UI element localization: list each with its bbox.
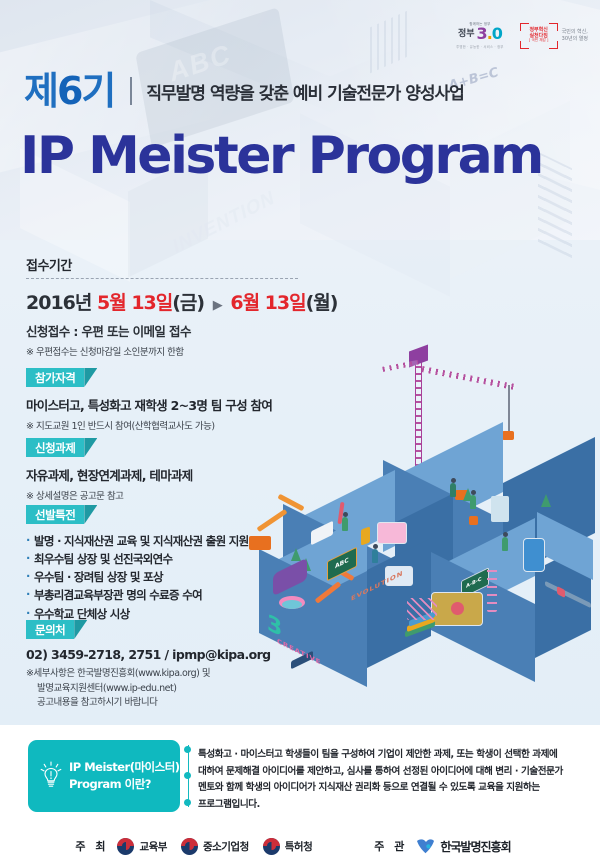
task-tab-label: 신청과제	[26, 438, 84, 457]
tab-fold-icon	[74, 620, 87, 639]
isometric-illustration: ABC A-B-C 3 CREATIVE EVOLUTION	[255, 330, 600, 730]
watermark-ladder	[538, 152, 572, 259]
tab-fold-icon	[84, 438, 97, 457]
benefits-list: 발명 · 지식재산권 교육 및 지식재산권 출원 지원 최우수팀 상장 및 선진…	[26, 532, 249, 623]
benefits-section: 선발특전 발명 · 지식재산권 교육 및 지식재산권 출원 지원 최우수팀 상장…	[26, 505, 249, 623]
innovation-bracket-mark: 정부혁신 실천다짐 [ 국민 체감 ]	[520, 23, 558, 49]
benefit-item: 부총리겸교육부장관 명의 수료증 수여	[26, 586, 249, 604]
benefit-item: 최우수팀 상장 및 선진국외연수	[26, 550, 249, 568]
benefit-item: 우수팀 · 장려팀 상장 및 포상	[26, 568, 249, 586]
receipt-title: 접수기간	[26, 255, 337, 274]
header-divider	[130, 77, 132, 105]
taegeuk-icon	[181, 838, 198, 855]
program-definition-label-box: IP Meister(마이스터) Program 이란?	[28, 740, 180, 812]
definition-line4: 프로그램입니다.	[198, 797, 568, 814]
task-tab: 신청과제	[26, 438, 84, 457]
task-section: 신청과제 자유과제, 현장연계과제, 테마과제 ※ 상세설명은 공고문 참고	[26, 438, 193, 502]
contact-note-line1: ※세부사항은 한국발명진흥회(www.kipa.org) 및	[26, 668, 210, 679]
tab-fold-icon	[84, 368, 97, 387]
benefits-tab-label: 선발특전	[26, 505, 84, 524]
receipt-start-dow: (금)	[172, 292, 204, 314]
gov30-korean: 정부	[458, 30, 475, 39]
innovation-side-line2: 30년의 열정	[562, 36, 588, 43]
header-subtitle: 직무발명 역량을 갖춘 예비 기술전문가 양성사업	[146, 79, 463, 104]
tab-fold-icon	[84, 505, 97, 524]
figure-body	[470, 495, 476, 509]
receipt-section: 접수기간 2016년 5월 13일(금) ▶ 6월 13일(월) 신청접수 : …	[26, 255, 337, 358]
receipt-year: 2016년	[26, 292, 91, 314]
eligibility-tab: 참가자격	[26, 368, 84, 387]
program-definition-label: IP Meister(마이스터) Program 이란?	[69, 759, 180, 792]
definition-dot	[184, 772, 191, 779]
contact-tab: 문의처	[26, 620, 74, 639]
host-item-kipo: 특허청	[263, 838, 312, 855]
figure-body	[372, 549, 378, 563]
poster: ABC INVENTION A+B=C 함께하는 정부 정부 3.0 투명한 ·…	[0, 0, 600, 864]
contact-tab-label: 문의처	[26, 620, 74, 639]
prop-server	[491, 496, 509, 522]
prop-scaffold	[407, 598, 437, 620]
task-line2: ※ 상세설명은 공고문 참고	[26, 488, 193, 502]
taegeuk-icon	[117, 838, 134, 855]
task-line1: 자유과제, 현장연계과제, 테마과제	[26, 465, 193, 484]
contact-note-line2: 발명교육지원센터(www.ip-edu.net)	[26, 682, 271, 697]
prop-smartphone	[523, 538, 545, 572]
host-label: 주 최	[75, 838, 108, 854]
innovation-line3: [ 국민 체감 ]	[529, 39, 548, 43]
gov30-footer: 투명한 · 유능한 · 서비스 · 정부	[456, 44, 503, 49]
eligibility-line2: ※ 지도교원 1인 반드시 참여(산학협력교사도 가능)	[26, 418, 272, 432]
contact-section: 문의처 02) 3459-2718, 2751 / ipmp@kipa.org …	[26, 620, 271, 711]
benefit-item: 발명 · 지식재산권 교육 및 지식재산권 출원 지원	[26, 532, 249, 550]
receipt-note: ※ 우편접수는 신청마감일 소인분까지 한함	[26, 344, 337, 358]
contact-note-line3: 공고내용을 참고하시기 바랍니다	[26, 696, 271, 711]
figure-body	[450, 483, 456, 497]
header-row: 제6기 직무발명 역량을 갖춘 예비 기술전문가 양성사업	[24, 72, 464, 110]
program-definition-bar: IP Meister(마이스터) Program 이란? 특성화고 · 마이스터…	[28, 740, 572, 812]
definition-line1: 특성화고 · 마이스터고 학생들이 팀을 구성하여 기업이 제안한 과제, 또는…	[198, 747, 568, 764]
eligibility-section: 참가자격 마이스터고, 특성화고 재학생 2~3명 팀 구성 참여 ※ 지도교원…	[26, 368, 272, 432]
prop-tree	[291, 548, 301, 561]
eligibility-line1: 마이스터고, 특성화고 재학생 2~3명 팀 구성 참여	[26, 395, 272, 414]
host-name: 교육부	[139, 839, 166, 854]
eligibility-tab-label: 참가자격	[26, 368, 84, 387]
host-name: 중소기업청	[203, 839, 249, 854]
top-logo-group: 함께하는 정부 정부 3.0 투명한 · 유능한 · 서비스 · 정부 정부혁신…	[456, 22, 588, 49]
receipt-arrow-icon: ▶	[213, 298, 222, 313]
organizer-name: 한국발명진흥회	[440, 838, 510, 855]
innovation-logo: 정부혁신 실천다짐 [ 국민 체감 ] 국민의 혁신, 30년의 열정	[520, 23, 588, 49]
host-item-education: 교육부	[117, 838, 166, 855]
contact-phone-email[interactable]: 02) 3459-2718, 2751 / ipmp@kipa.org	[26, 647, 271, 662]
crane-hook-load	[502, 431, 514, 440]
receipt-start-date: 5월 13일	[97, 292, 172, 314]
organizer-group: 주 관 한국발명진흥회	[374, 838, 524, 855]
crane-cable	[508, 385, 510, 433]
prop-tree	[541, 494, 551, 507]
host-group: 주 최 교육부 중소기업청 특허청	[75, 838, 326, 855]
prop-box	[469, 516, 478, 525]
prop-play-button	[451, 602, 464, 615]
figure-body	[502, 537, 508, 551]
prop-disc	[282, 600, 302, 609]
receipt-end-date: 6월 13일	[230, 292, 305, 314]
kipa-logo-icon	[416, 838, 435, 854]
definition-line3: 멘토와 함께 학생의 아이디어가 지식재산 권리화 등으로 연결될 수 있도록 …	[198, 780, 568, 797]
government-30-logo: 함께하는 정부 정부 3.0 투명한 · 유능한 · 서비스 · 정부	[456, 22, 503, 49]
definition-dot	[184, 799, 191, 806]
receipt-dateline: 2016년 5월 13일(금) ▶ 6월 13일(월)	[26, 288, 337, 315]
contact-notes: ※세부사항은 한국발명진흥회(www.kipa.org) 및 발명교육지원센터(…	[26, 667, 271, 711]
receipt-method: 신청접수 : 우편 또는 이메일 접수	[26, 321, 337, 340]
innovation-side-text: 국민의 혁신, 30년의 열정	[562, 29, 588, 43]
organizer-label: 주 관	[374, 838, 407, 854]
host-name: 특허청	[285, 839, 312, 854]
benefits-tab: 선발특전	[26, 505, 84, 524]
robot-arm-base	[249, 536, 271, 550]
footer: 주 최 교육부 중소기업청 특허청 주 관	[0, 828, 600, 864]
receipt-divider	[26, 278, 298, 279]
host-item-sme: 중소기업청	[181, 838, 249, 855]
prop-dollar-sign	[361, 526, 370, 545]
definition-line2: 대하여 문제해결 아이디어를 제안하고, 심사를 통하여 선정된 아이디어에 대…	[198, 764, 568, 781]
program-definition-body: 특성화고 · 마이스터고 학생들이 팀을 구성하여 기업이 제안한 과제, 또는…	[180, 740, 572, 812]
organizer-item: 한국발명진흥회	[416, 838, 510, 855]
lightbulb-icon	[40, 761, 62, 791]
crane-counter-jib	[382, 360, 418, 372]
crane-jib	[421, 366, 515, 390]
prop-monitor	[377, 522, 407, 544]
gov30-numeral: 3.0	[477, 26, 502, 42]
taegeuk-icon	[263, 838, 280, 855]
prop-ladder	[487, 568, 497, 612]
receipt-end-dow: (월)	[306, 292, 338, 314]
cohort-label: 제6기	[24, 72, 114, 110]
program-definition-label-line2: Program 이란?	[69, 776, 180, 793]
innovation-side-line1: 국민의 혁신,	[562, 29, 588, 36]
program-definition-label-line1: IP Meister(마이스터)	[69, 759, 180, 776]
figure-body	[342, 517, 348, 531]
page-title: IP Meister Program	[20, 130, 542, 182]
definition-dot	[184, 746, 191, 753]
